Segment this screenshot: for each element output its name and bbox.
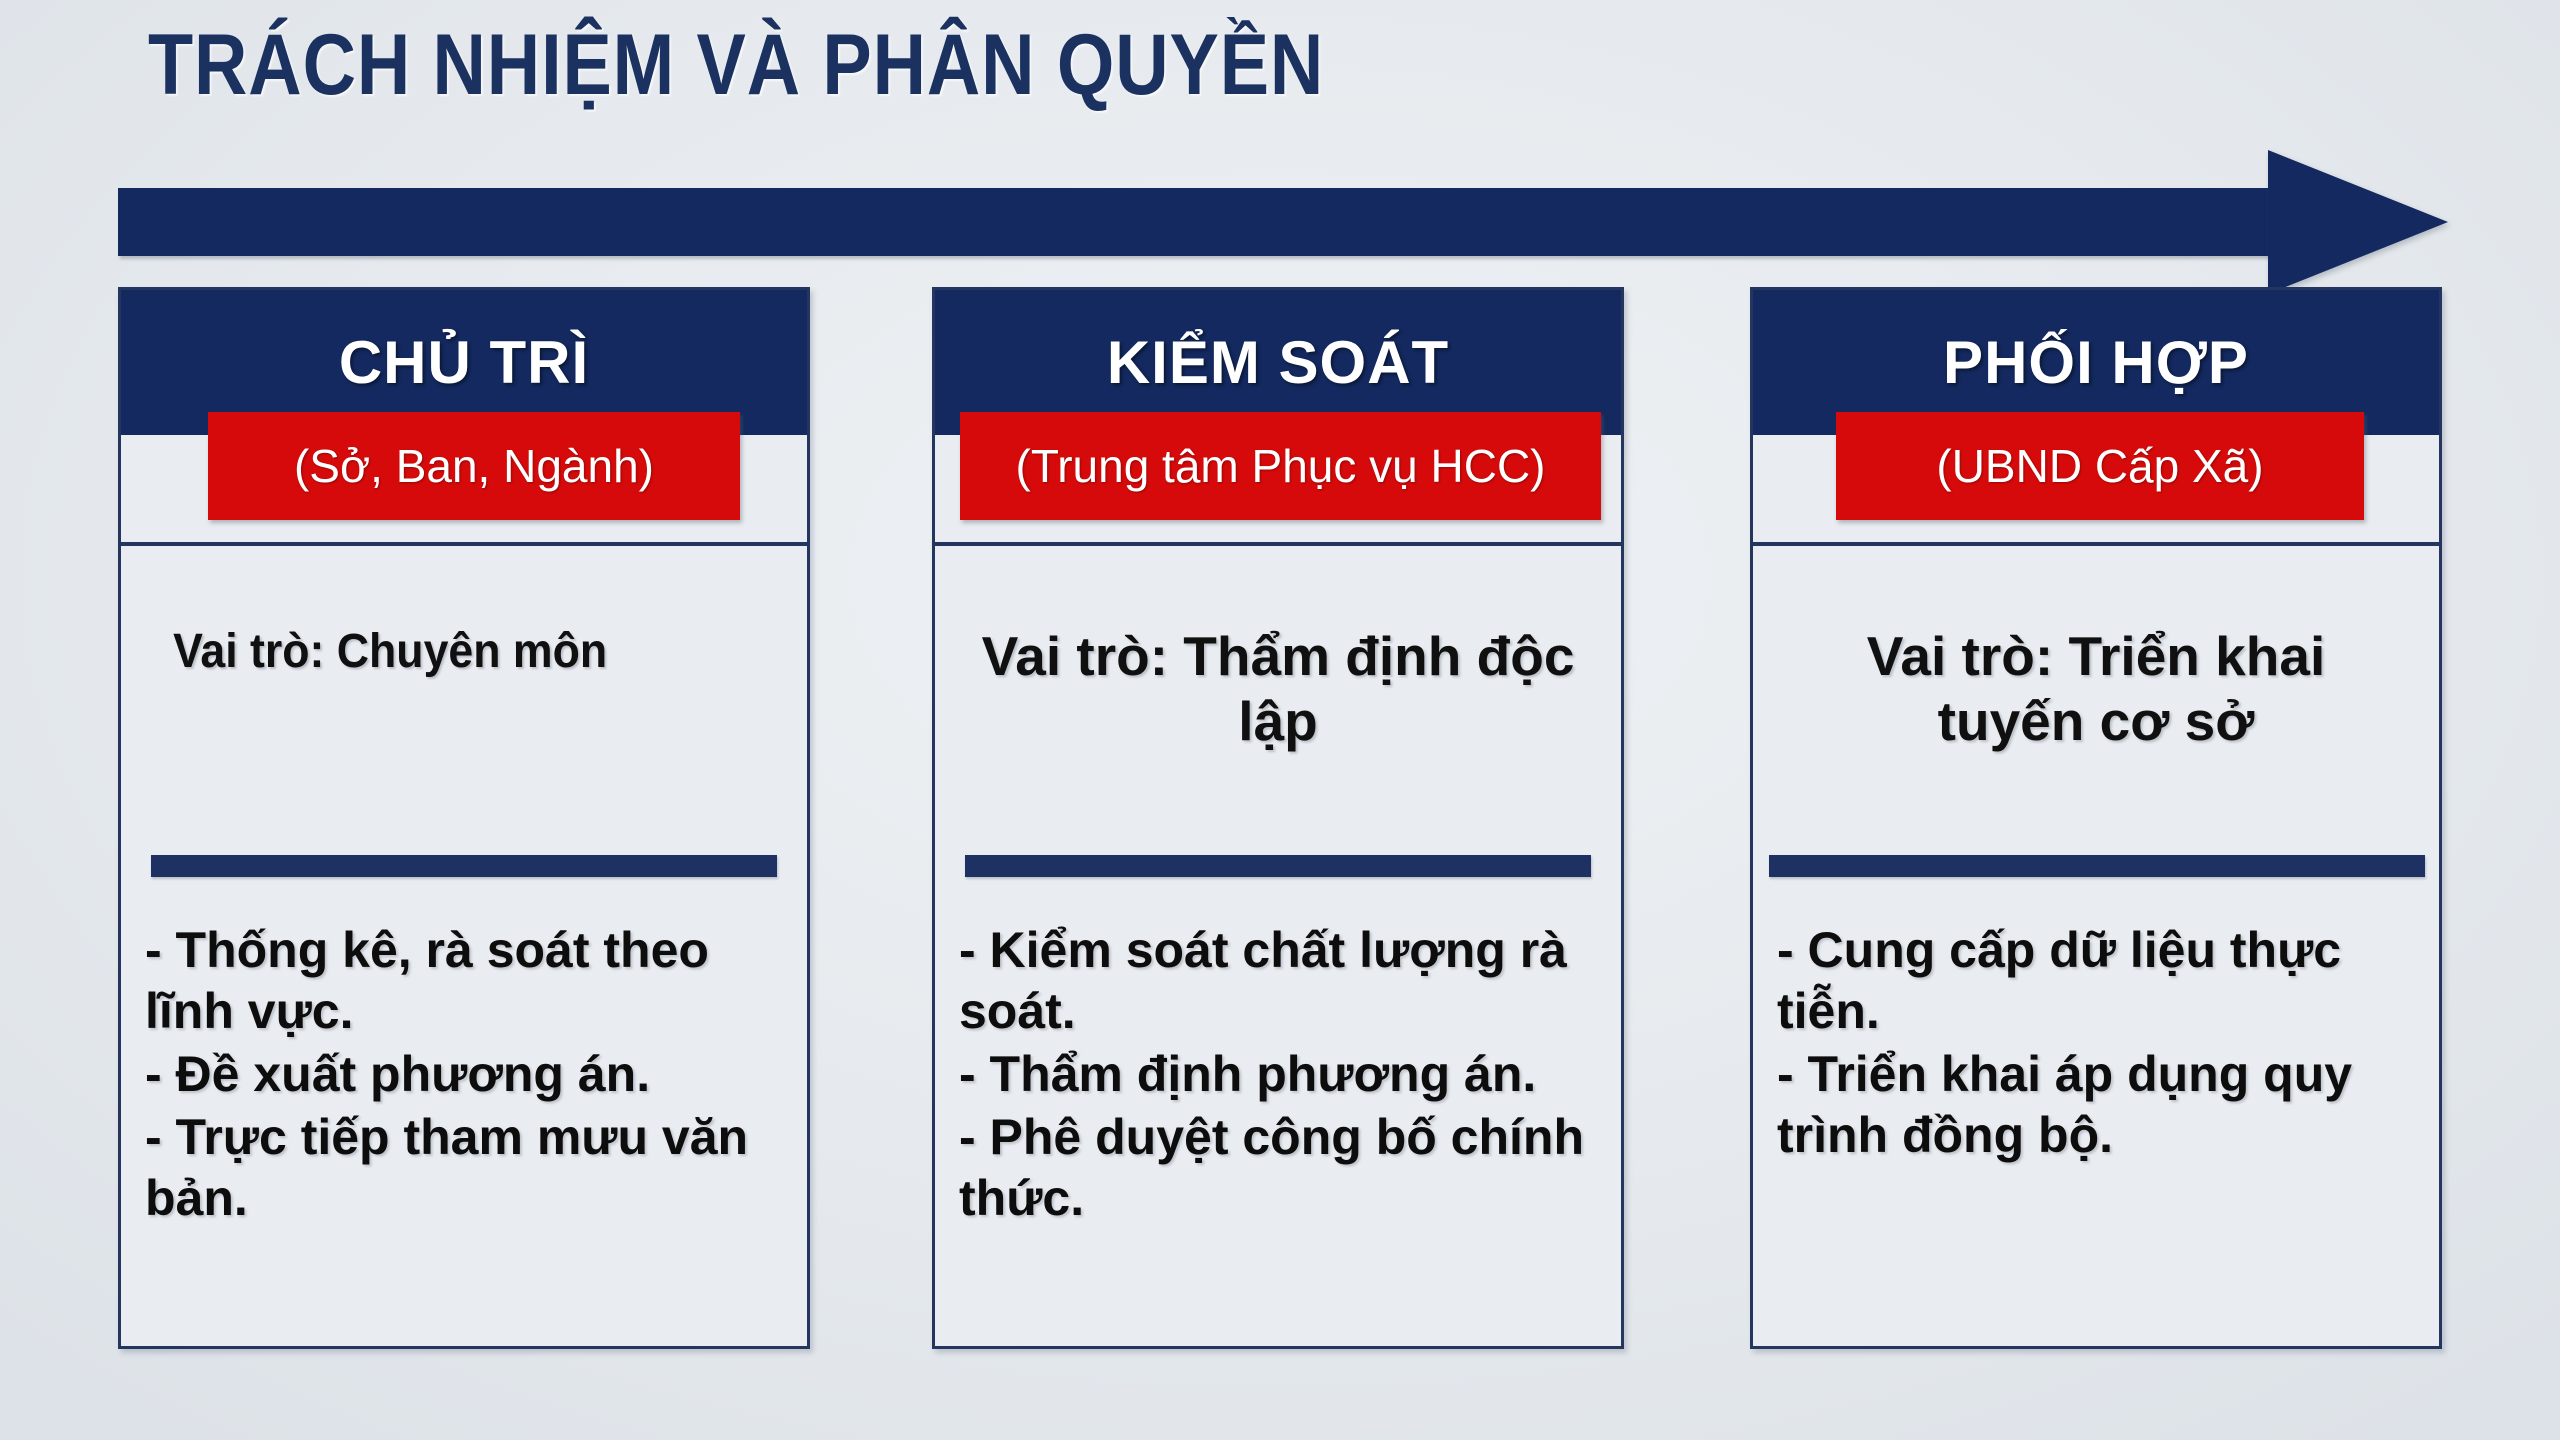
card-subtitle-badge: (Trung tâm Phục vụ HCC) — [960, 412, 1601, 520]
card-divider — [965, 855, 1591, 877]
card-divider — [1769, 855, 2425, 877]
card-bullet-list: - Cung cấp dữ liệu thực tiễn. - Triển kh… — [1777, 920, 2427, 1168]
list-item: - Kiểm soát chất lượng rà soát. — [959, 920, 1609, 1042]
card-subtitle-band: (Trung tâm Phục vụ HCC) — [935, 435, 1621, 546]
list-item: - Cung cấp dữ liệu thực tiễn. — [1777, 920, 2427, 1042]
card-subtitle-band: (Sở, Ban, Ngành) — [121, 435, 807, 546]
card-bullet-list: - Thống kê, rà soát theo lĩnh vực. - Đề … — [145, 920, 795, 1231]
responsibility-card-kiem-soat[interactable]: KIỂM SOÁT (Trung tâm Phục vụ HCC) Vai tr… — [932, 287, 1624, 1349]
card-body: Vai trò: Triển khai tuyến cơ sở - Cung c… — [1753, 546, 2439, 1343]
slide-canvas: TRÁCH NHIỆM VÀ PHÂN QUYỀN CHỦ TRÌ (Sở, B… — [0, 0, 2560, 1440]
card-role: Vai trò: Thẩm định độc lập — [935, 624, 1621, 754]
card-subtitle-band: (UBND Cấp Xã) — [1753, 435, 2439, 546]
card-divider — [151, 855, 777, 877]
right-arrow-icon — [2268, 150, 2448, 294]
card-subtitle-badge: (Sở, Ban, Ngành) — [208, 412, 740, 520]
list-item: - Phê duyệt công bố chính thức. — [959, 1107, 1609, 1229]
list-item: - Trực tiếp tham mưu văn bản. — [145, 1107, 795, 1229]
progress-arrow — [118, 150, 2448, 295]
list-item: - Thống kê, rà soát theo lĩnh vực. — [145, 920, 795, 1042]
card-subtitle-label: (UBND Cấp Xã) — [1936, 439, 2263, 493]
responsibility-card-phoi-hop[interactable]: PHỐI HỢP (UBND Cấp Xã) Vai trò: Triển kh… — [1750, 287, 2442, 1349]
card-subtitle-badge: (UBND Cấp Xã) — [1836, 412, 2364, 520]
arrow-shaft — [118, 188, 2283, 256]
card-body: Vai trò: Chuyên môn - Thống kê, rà soát … — [121, 546, 807, 1343]
card-subtitle-label: (Sở, Ban, Ngành) — [294, 439, 654, 493]
list-item: - Đề xuất phương án. — [145, 1044, 795, 1105]
card-title: PHỐI HỢP — [1943, 328, 2249, 397]
card-role: Vai trò: Chuyên môn — [121, 624, 759, 681]
list-item: - Triển khai áp dụng quy trình đồng bộ. — [1777, 1044, 2427, 1166]
responsibility-card-chu-tri[interactable]: CHỦ TRÌ (Sở, Ban, Ngành) Vai trò: Chuyên… — [118, 287, 810, 1349]
card-subtitle-label: (Trung tâm Phục vụ HCC) — [1016, 439, 1546, 493]
card-body: Vai trò: Thẩm định độc lập - Kiểm soát c… — [935, 546, 1621, 1343]
card-title: KIỂM SOÁT — [1107, 328, 1449, 397]
list-item: - Thẩm định phương án. — [959, 1044, 1609, 1105]
card-bullet-list: - Kiểm soát chất lượng rà soát. - Thẩm đ… — [959, 920, 1609, 1231]
page-title: TRÁCH NHIỆM VÀ PHÂN QUYỀN — [148, 22, 1324, 108]
card-role: Vai trò: Triển khai tuyến cơ sở — [1753, 624, 2439, 754]
card-title: CHỦ TRÌ — [339, 328, 589, 397]
